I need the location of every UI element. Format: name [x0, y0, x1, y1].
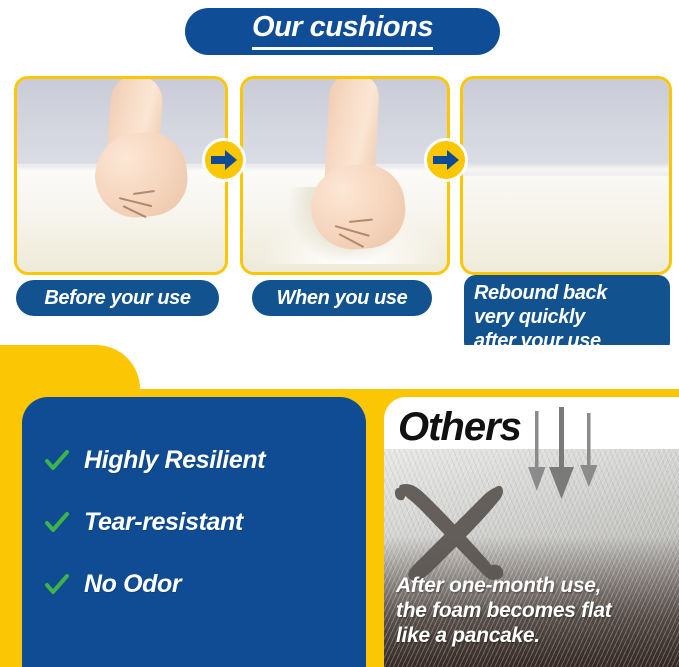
- right-arrow-icon: [202, 138, 246, 182]
- caption-after: Rebound back very quickly after your use: [464, 275, 670, 354]
- pressure-arrows-icon: [514, 407, 604, 512]
- right-arrow-icon: [424, 138, 468, 182]
- check-icon: [44, 509, 70, 535]
- feature-item: Highly Resilient: [44, 429, 354, 491]
- feature-list: Highly Resilient Tear-resistant No Odor: [44, 429, 354, 615]
- photo-during: [243, 79, 447, 272]
- check-icon: [44, 571, 70, 597]
- comparison-panel-before: [14, 76, 228, 275]
- page-title: Our cushions: [252, 13, 433, 50]
- feature-item: Tear-resistant: [44, 491, 354, 553]
- others-title: Others: [398, 407, 521, 447]
- infographic-root: Our cushions: [0, 0, 679, 667]
- page-title-pill: Our cushions: [185, 8, 500, 55]
- others-caption-line-1: After one-month use,: [396, 573, 679, 598]
- photo-before: [17, 79, 225, 272]
- others-card: Others: [384, 397, 679, 667]
- others-caption-line-2: the foam becomes flat: [396, 598, 679, 623]
- caption-after-line-2: very quickly: [474, 305, 670, 329]
- yellow-notch-curve: [0, 345, 140, 389]
- photo-background: [463, 79, 669, 170]
- comparison-panel-during: [240, 76, 450, 275]
- feature-label: Tear-resistant: [84, 508, 243, 537]
- hand-fist: [85, 79, 205, 265]
- caption-during: When you use: [252, 280, 432, 316]
- foam-edge: [463, 164, 669, 171]
- caption-after-line-1: Rebound back: [474, 281, 670, 305]
- hand-fist: [297, 79, 427, 272]
- our-features-panel: Highly Resilient Tear-resistant No Odor: [22, 397, 366, 667]
- fist: [91, 128, 191, 221]
- check-icon: [44, 447, 70, 473]
- photo-after: [463, 79, 669, 272]
- feature-item: No Odor: [44, 553, 354, 615]
- yellow-notch-round-corner: [128, 345, 679, 381]
- others-caption: After one-month use, the foam becomes fl…: [396, 573, 679, 648]
- fist: [308, 161, 409, 253]
- feature-label: Highly Resilient: [84, 446, 265, 475]
- feature-label: No Odor: [84, 570, 181, 599]
- comparison-panel-after: [460, 76, 672, 275]
- caption-before: Before your use: [16, 280, 219, 316]
- foam-surface-rebounded: [463, 176, 669, 273]
- others-caption-line-3: like a pancake.: [396, 623, 679, 648]
